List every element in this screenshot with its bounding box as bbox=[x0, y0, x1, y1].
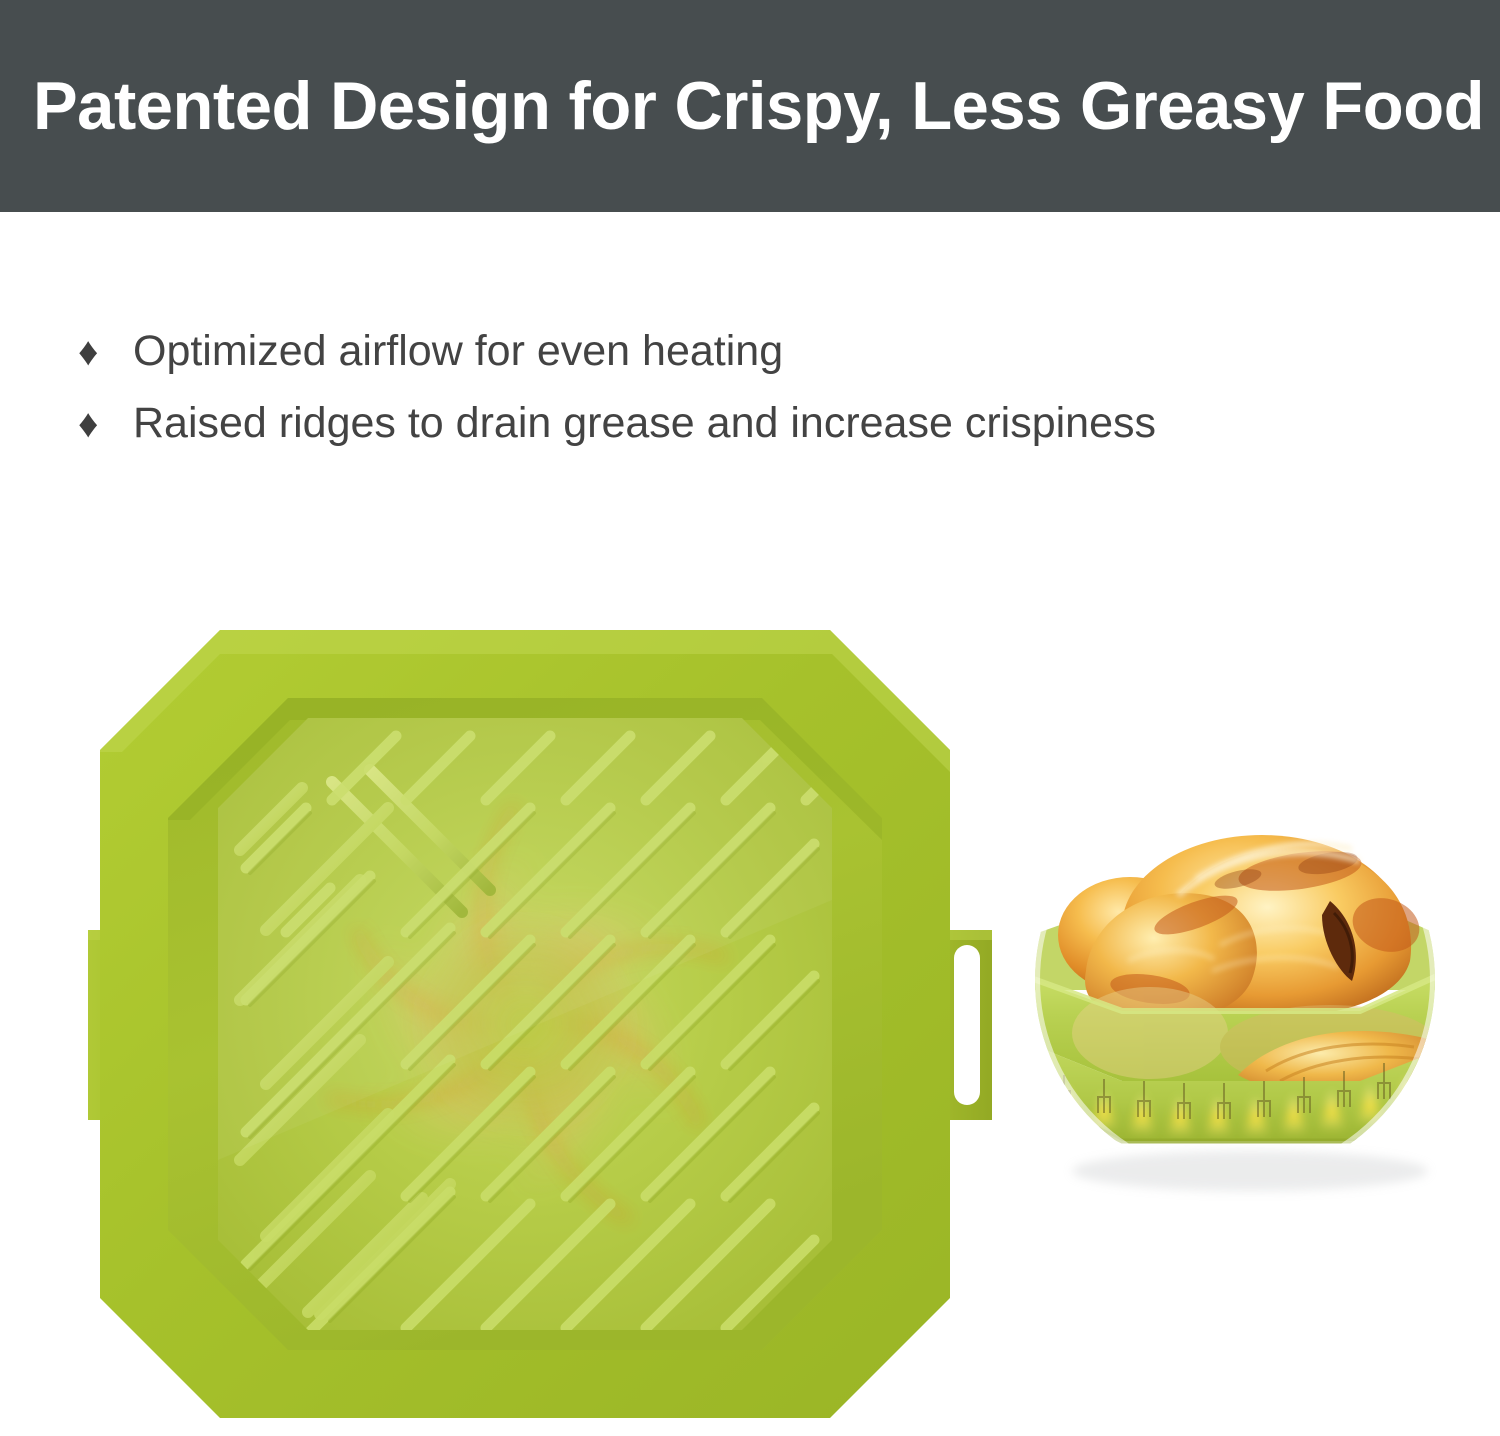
product-feature-page: Patented Design for Crispy, Less Greasy … bbox=[0, 0, 1500, 1436]
inset-content bbox=[1000, 775, 1470, 1215]
feature-text: Raised ridges to drain grease and increa… bbox=[133, 402, 1156, 445]
page-title: Patented Design for Crispy, Less Greasy … bbox=[33, 72, 1484, 140]
header-banner: Patented Design for Crispy, Less Greasy … bbox=[0, 0, 1500, 212]
diamond-bullet-icon: ♦ bbox=[78, 404, 133, 444]
feature-list: ♦ Optimized airflow for even heating ♦ R… bbox=[78, 330, 1378, 474]
inset-shadow bbox=[1072, 1151, 1428, 1191]
feature-text: Optimized airflow for even heating bbox=[133, 330, 783, 373]
list-item: ♦ Optimized airflow for even heating bbox=[78, 330, 1378, 402]
inset-image-roast-chicken bbox=[1000, 775, 1470, 1215]
diamond-bullet-icon: ♦ bbox=[78, 332, 133, 372]
list-item: ♦ Raised ridges to drain grease and incr… bbox=[78, 402, 1378, 474]
product-image-silicone-liner bbox=[70, 600, 1010, 1436]
